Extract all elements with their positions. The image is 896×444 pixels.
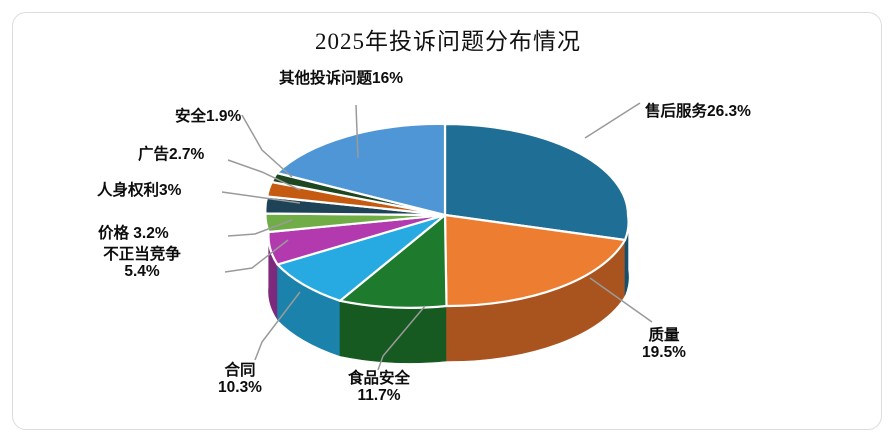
pie-label-aftersales: 售后服务26.3% [645,103,751,120]
pie-label-safety: 安全1.9% [175,108,241,125]
pie-side-food [340,301,447,363]
leader-line-aftersales [585,103,640,138]
pie-label-price: 价格 3.2% [98,225,169,242]
pie-label-advertising: 广告2.7% [138,146,204,163]
pie-chart-plot [0,0,896,444]
pie-label-food-safety: 食品安全 11.7% [320,370,438,405]
pie-label-unfair-competition: 不正当竞争 5.4% [68,246,216,281]
pie-label-quality: 质量 19.5% [618,327,710,362]
pie-top-slices [265,124,628,308]
pie-label-contract: 合同 10.3% [185,362,295,397]
pie-label-other: 其他投诉问题16% [279,70,403,87]
pie-label-personal-rights: 人身权利3% [97,182,181,199]
